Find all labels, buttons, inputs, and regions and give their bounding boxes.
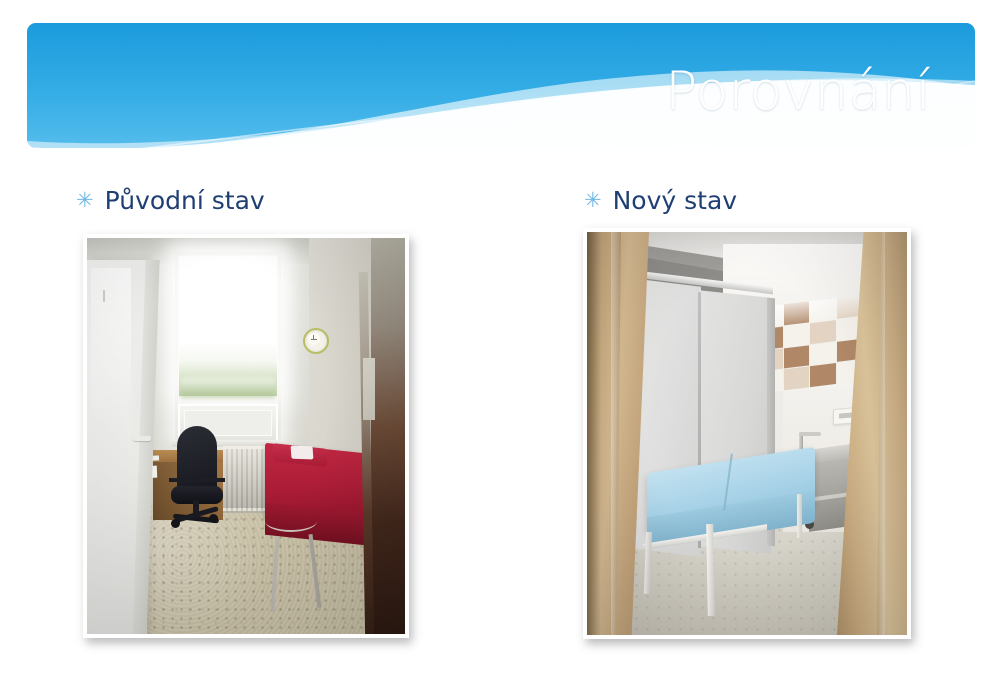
page-title: Porovnání — [665, 65, 931, 118]
bullet-row-new: ✳ Nový stav — [578, 180, 998, 220]
label-original-state: Původní stav — [105, 186, 265, 215]
new-photo-vignette — [587, 232, 907, 635]
label-new-state: Nový stav — [613, 186, 737, 215]
bullet-row-original: ✳ Původní stav — [70, 180, 550, 220]
photo-new-content — [587, 232, 907, 635]
asterisk-bullet-icon: ✳ — [70, 190, 94, 211]
photo-old-content — [87, 238, 405, 634]
slide-canvas: Porovnání ✳ Původní stav ✳ Nový stav — [0, 0, 1000, 694]
photo-old-examination-room — [83, 234, 409, 638]
column-original: ✳ Původní stav — [70, 180, 550, 220]
header-banner: Porovnání — [27, 23, 975, 148]
column-new: ✳ Nový stav — [578, 180, 998, 220]
old-photo-vignette — [87, 238, 405, 634]
asterisk-bullet-icon: ✳ — [578, 190, 602, 211]
photo-new-examination-room — [583, 228, 911, 639]
